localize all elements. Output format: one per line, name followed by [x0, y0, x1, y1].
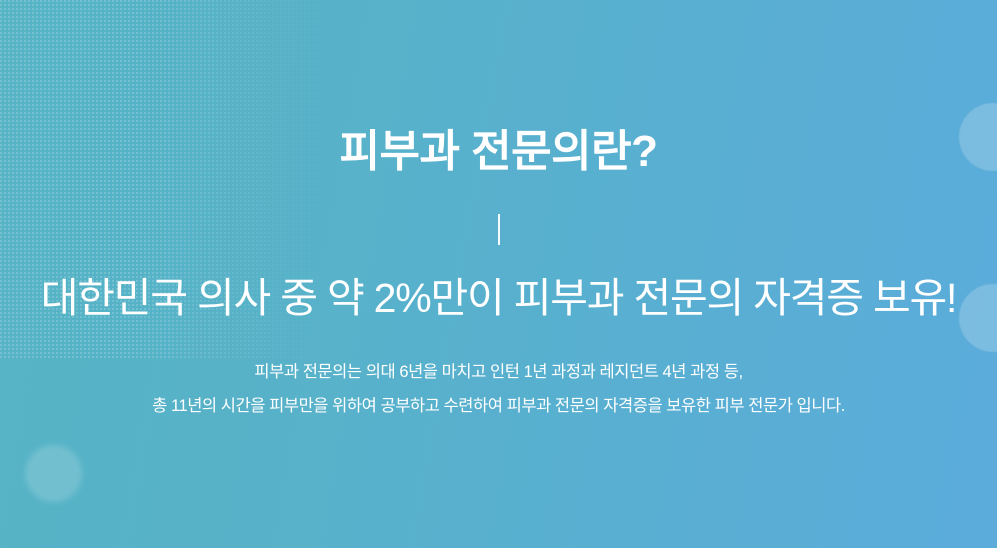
banner-headline: 대한민국 의사 중 약 2%만이 피부과 전문의 자격증 보유!: [0, 274, 997, 322]
banner-body: 피부과 전문의는 의대 6년을 마치고 인턴 1년 과정과 레지던트 4년 과정…: [0, 355, 997, 424]
promo-banner: 피부과 전문의란? 대한민국 의사 중 약 2%만이 피부과 전문의 자격증 보…: [0, 0, 997, 548]
banner-body-line-2: 총 11년의 시간을 피부만을 위하여 공부하고 수련하여 피부과 전문의 자격…: [0, 389, 997, 423]
banner-content: 피부과 전문의란? 대한민국 의사 중 약 2%만이 피부과 전문의 자격증 보…: [0, 0, 997, 548]
title-divider: [498, 214, 500, 245]
banner-body-line-1: 피부과 전문의는 의대 6년을 마치고 인턴 1년 과정과 레지던트 4년 과정…: [0, 355, 997, 389]
banner-title: 피부과 전문의란?: [0, 126, 997, 177]
